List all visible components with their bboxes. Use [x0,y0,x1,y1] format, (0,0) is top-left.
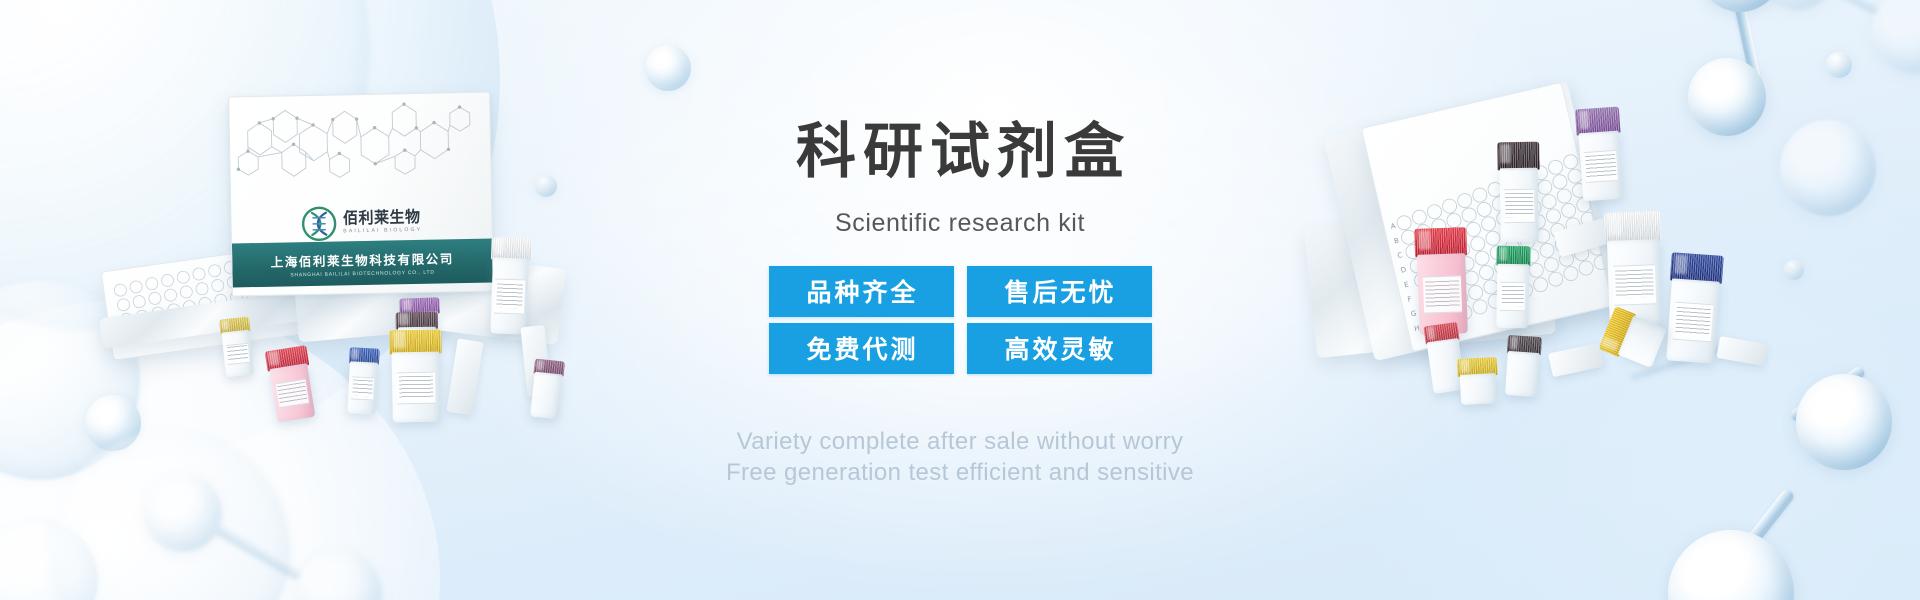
vial-cap-dark-brown [1497,142,1539,171]
svg-text:B: B [1393,236,1400,245]
sample-tube [1716,336,1767,366]
reagent-vial [389,330,443,423]
company-logo: 佰利莱生物 BAILILAI BIOLOGY [301,204,423,242]
company-name-en: SHANGHAI BAILILAI BIOTECHNOLOGY CO., LTD [290,269,434,278]
molecule-bond [1799,0,1912,30]
reagent-vial [1575,107,1625,202]
reagent-vial [219,317,255,378]
feature-badge-sensitive[interactable]: 高效灵敏 [967,323,1152,374]
tagline-line-2: Free generation test efficient and sensi… [726,459,1194,487]
molecule-node [1698,0,1782,12]
feature-badge-group: 品种齐全 售后无忧 免费代测 高效灵敏 [769,266,1152,374]
reagent-vial [1664,252,1723,363]
molecule-icon [150,430,380,600]
logo-name-en: BAILILAI BIOLOGY [343,228,422,235]
water-bubble-icon [85,395,141,451]
reagent-vial [1457,357,1499,405]
kit-carton: 佰利莱生物 BAILILAI BIOLOGY 上海佰利莱生物科技有限公司 SHA… [228,92,494,297]
molecule-bond [1713,488,1796,589]
feature-badge-variety[interactable]: 品种齐全 [769,266,954,317]
svg-text:E: E [1403,280,1409,289]
reagent-vial [1497,142,1541,243]
reagent-vial [488,237,531,334]
logo-name-cn: 佰利莱生物 [343,210,422,227]
molecule-node [1758,0,1836,10]
water-bubble-icon [0,520,98,600]
molecule-bond [1733,0,1763,89]
svg-text:A: A [1390,222,1397,231]
svg-text:C: C [1397,251,1404,260]
page-subtitle: Scientific research kit [835,209,1085,238]
promo-banner: 佰利莱生物 BAILILAI BIOLOGY 上海佰利莱生物科技有限公司 SHA… [0,0,1920,600]
reagent-vial [529,359,565,420]
water-bubble-icon [1826,52,1852,78]
sample-tube [1548,343,1604,377]
feature-badge-free-test[interactable]: 免费代测 [769,323,954,374]
product-image-right: ABC DEF GH [1310,96,1830,396]
tagline-group: Variety complete after sale without worr… [726,428,1194,487]
svg-text:F: F [1407,295,1413,304]
molecule-node [144,474,222,552]
reagent-vial [1414,227,1470,335]
product-image-left: 佰利莱生物 BAILILAI BIOLOGY 上海佰利莱生物科技有限公司 SHA… [100,90,580,390]
feature-badge-after-sale[interactable]: 售后无忧 [967,266,1152,317]
page-title: 科研试剂盒 [789,122,1131,182]
molecule-node [296,550,382,600]
tagline-line-1: Variety complete after sale without worr… [737,428,1184,456]
molecule-node [1668,530,1794,600]
dna-helix-icon [301,205,338,242]
company-band: 上海佰利莱生物科技有限公司 SHANGHAI BAILILAI BIOTECHN… [232,238,493,287]
reagent-vial [265,345,318,423]
reagent-vial [1495,246,1530,329]
vial-cap-white [1604,211,1661,243]
water-bubble-icon [50,430,290,600]
molecule-node [1872,0,1920,74]
svg-text:D: D [1400,266,1407,275]
reagent-vial [346,347,379,414]
molecule-bond [195,511,304,581]
hexagon-pattern-icon [229,97,491,214]
company-name-cn: 上海佰利莱生物科技有限公司 [270,248,454,271]
sample-tube [446,338,483,415]
molecule-icon [1700,380,1920,600]
reagent-vial [1504,335,1542,397]
water-bubble-icon [645,45,691,91]
